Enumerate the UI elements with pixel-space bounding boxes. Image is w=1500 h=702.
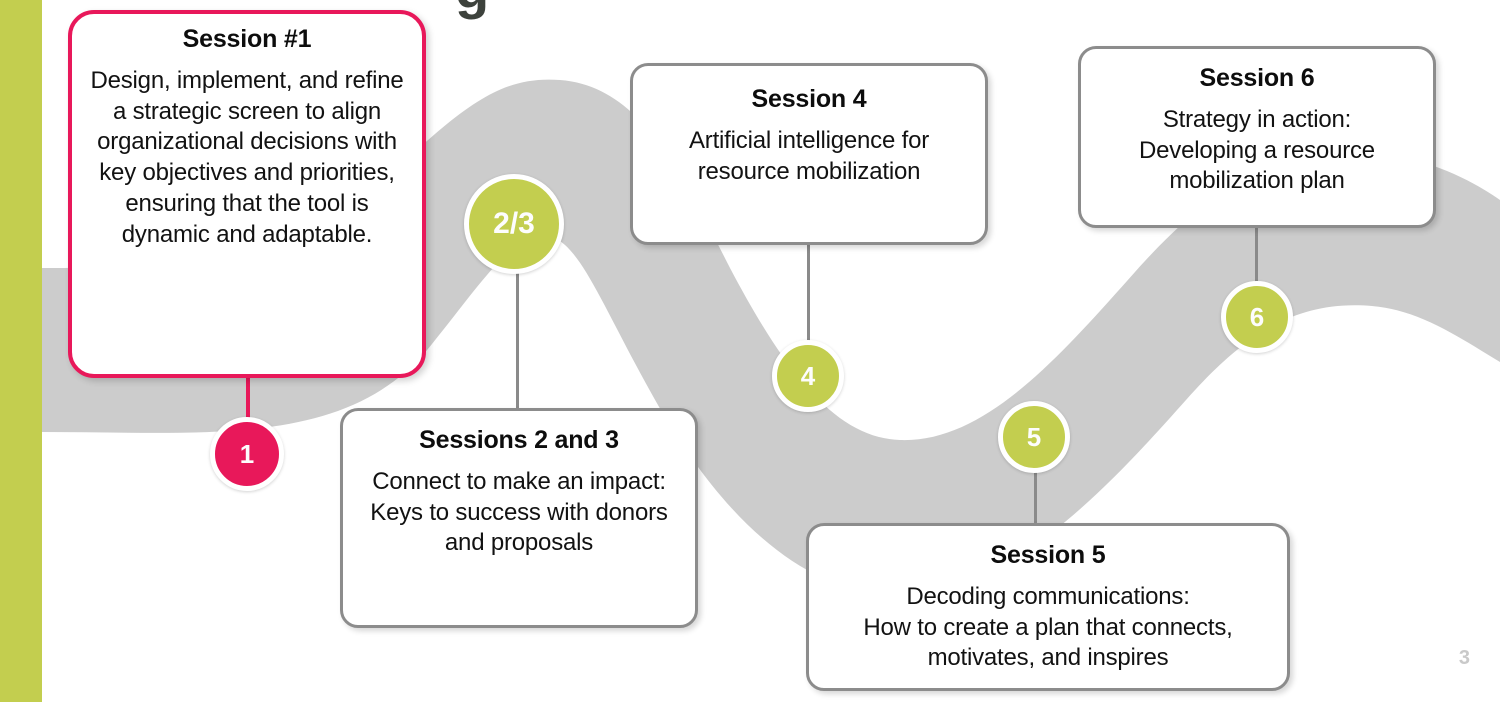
marker-session-1-label: 1 bbox=[240, 439, 254, 470]
page-number: 3 bbox=[1459, 647, 1470, 670]
marker-sessions-2-3-label: 2/3 bbox=[493, 207, 535, 241]
card-session-4-body: Artificial intelligence for resource mob… bbox=[647, 126, 971, 187]
marker-sessions-2-3[interactable]: 2/3 bbox=[464, 174, 564, 274]
card-session-4-title: Session 4 bbox=[647, 84, 971, 114]
marker-session-1[interactable]: 1 bbox=[210, 417, 284, 491]
marker-session-4-label: 4 bbox=[801, 361, 815, 392]
card-session-6-title: Session 6 bbox=[1095, 63, 1419, 93]
marker-session-6-label: 6 bbox=[1250, 302, 1264, 333]
left-accent-bar bbox=[0, 0, 42, 702]
card-session-1-title: Session #1 bbox=[86, 24, 408, 54]
card-session-5-body: Decoding communications: How to create a… bbox=[823, 582, 1273, 674]
card-session-5-title: Session 5 bbox=[823, 540, 1273, 570]
marker-session-4[interactable]: 4 bbox=[772, 340, 844, 412]
clipped-slide-title: g bbox=[455, 0, 490, 21]
card-sessions-2-3-body: Connect to make an impact: Keys to succe… bbox=[357, 467, 681, 559]
card-session-1[interactable]: Session #1 Design, implement, and refine… bbox=[68, 10, 426, 378]
card-sessions-2-3-title: Sessions 2 and 3 bbox=[357, 425, 681, 455]
marker-session-5-label: 5 bbox=[1027, 422, 1041, 453]
card-session-4[interactable]: Session 4 Artificial intelligence for re… bbox=[630, 63, 988, 245]
card-sessions-2-3[interactable]: Sessions 2 and 3 Connect to make an impa… bbox=[340, 408, 698, 628]
marker-session-5[interactable]: 5 bbox=[998, 401, 1070, 473]
connector-session-5 bbox=[1034, 470, 1037, 525]
connector-sessions-2-3 bbox=[516, 272, 519, 412]
connector-session-4 bbox=[807, 245, 810, 355]
marker-session-6[interactable]: 6 bbox=[1221, 281, 1293, 353]
slide-canvas: g Session #1 Design, implement, and refi… bbox=[0, 0, 1500, 702]
card-session-1-body: Design, implement, and refine a strategi… bbox=[86, 66, 408, 250]
card-session-6[interactable]: Session 6 Strategy in action: Developing… bbox=[1078, 46, 1436, 228]
card-session-6-body: Strategy in action: Developing a resourc… bbox=[1095, 105, 1419, 197]
card-session-5[interactable]: Session 5 Decoding communications: How t… bbox=[806, 523, 1290, 691]
